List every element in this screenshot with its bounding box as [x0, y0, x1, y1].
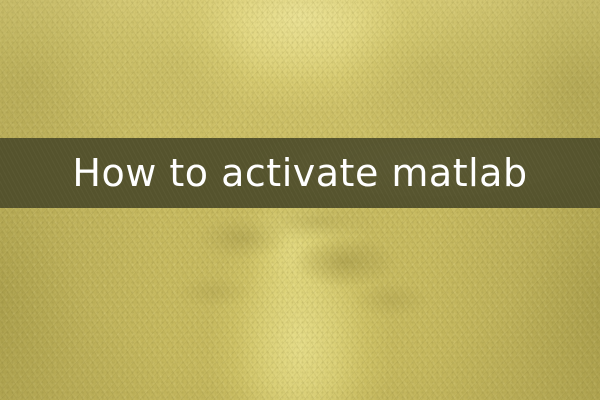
header-image-container: How to activate matlab — [0, 0, 600, 400]
banner-title-text: How to activate matlab — [72, 154, 527, 192]
title-banner: How to activate matlab — [0, 138, 600, 208]
